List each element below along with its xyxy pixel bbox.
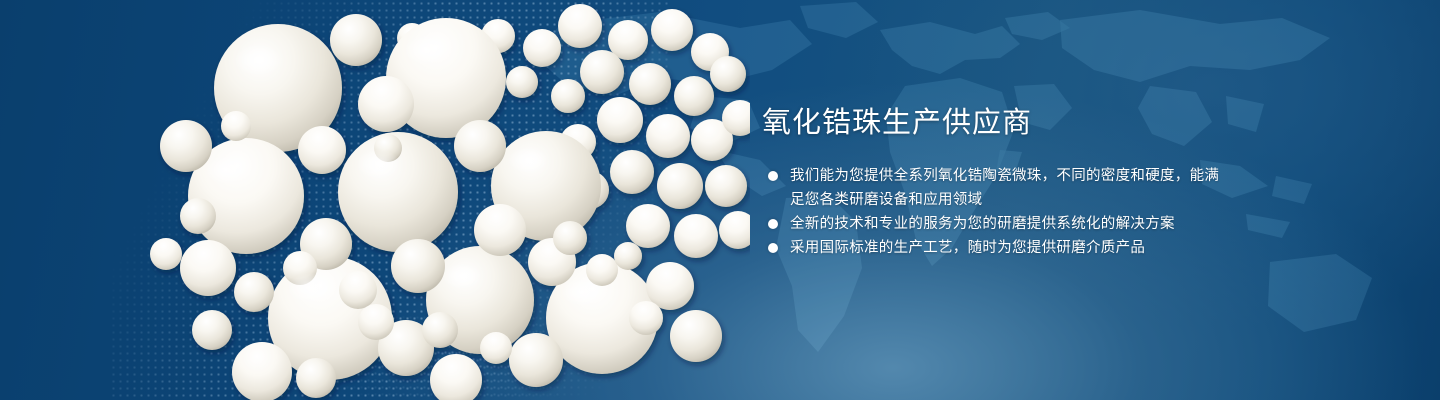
feature-list: 我们能为您提供全系列氧化锆陶瓷微珠，不同的密度和硬度，能满足您各类研磨设备和应用… (762, 164, 1222, 260)
hero-banner: 氧化锆珠生产供应商 我们能为您提供全系列氧化锆陶瓷微珠，不同的密度和硬度，能满足… (0, 0, 1440, 400)
list-item-text: 我们能为您提供全系列氧化锆陶瓷微珠，不同的密度和硬度，能满足您各类研磨设备和应用… (790, 168, 1219, 208)
bullet-dot-icon (768, 171, 778, 181)
world-map-icon (0, 0, 1440, 400)
bullet-dot-icon (768, 219, 778, 229)
list-item-text: 采用国际标准的生产工艺，随时为您提供研磨介质产品 (790, 240, 1145, 256)
list-item: 我们能为您提供全系列氧化锆陶瓷微珠，不同的密度和硬度，能满足您各类研磨设备和应用… (762, 164, 1222, 212)
page-title: 氧化锆珠生产供应商 (762, 104, 1222, 142)
list-item-text: 全新的技术和专业的服务为您的研磨提供系统化的解决方案 (790, 216, 1175, 232)
list-item: 全新的技术和专业的服务为您的研磨提供系统化的解决方案 (762, 212, 1222, 236)
banner-copy: 氧化锆珠生产供应商 我们能为您提供全系列氧化锆陶瓷微珠，不同的密度和硬度，能满足… (762, 104, 1222, 260)
bullet-dot-icon (768, 243, 778, 253)
list-item: 采用国际标准的生产工艺，随时为您提供研磨介质产品 (762, 236, 1222, 260)
